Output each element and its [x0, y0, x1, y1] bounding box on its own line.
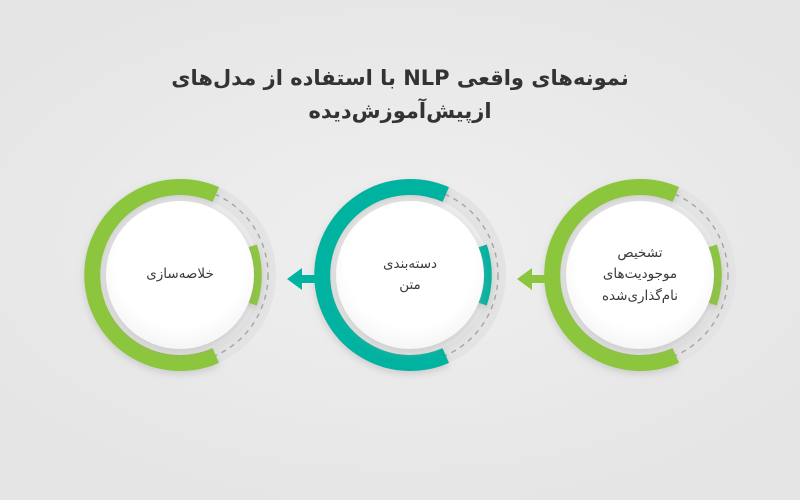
- page-title-line-2: ازپیش‌آموزش‌دیده: [0, 95, 800, 128]
- arrow-classification-to-summarization: [285, 256, 331, 302]
- node-summarization[interactable]: خلاصه‌سازی: [80, 175, 280, 375]
- page-title-line-1: نمونه‌های واقعی NLP با استفاده از مدل‌ها…: [0, 62, 800, 95]
- arrow-ner-to-classification: [515, 256, 561, 302]
- node-ring-graphic: [540, 175, 740, 375]
- node-text-classification[interactable]: دسته‌بندی متن: [310, 175, 510, 375]
- arrow-left-icon: [515, 256, 561, 302]
- page-title: نمونه‌های واقعی NLP با استفاده از مدل‌ها…: [0, 62, 800, 127]
- node-ring-graphic: [310, 175, 510, 375]
- node-ring-graphic: [80, 175, 280, 375]
- arrow-left-icon: [285, 256, 331, 302]
- diagram-stage: نمونه‌های واقعی NLP با استفاده از مدل‌ها…: [0, 0, 800, 500]
- node-named-entity-recognition[interactable]: تشخیص موجودیت‌های نام‌گذاری‌شده: [540, 175, 740, 375]
